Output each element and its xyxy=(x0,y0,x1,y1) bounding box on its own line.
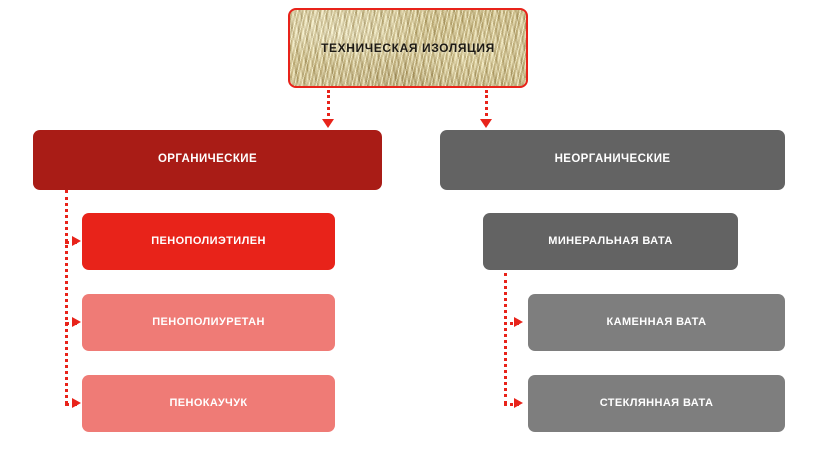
diagram-canvas: ТЕХНИЧЕСКАЯ ИЗОЛЯЦИЯ ОРГАНИЧЕСКИЕ НЕОРГА… xyxy=(0,0,817,450)
node-glass-wool[interactable]: СТЕКЛЯННАЯ ВАТА xyxy=(528,375,785,432)
node-glass-wool-label: СТЕКЛЯННАЯ ВАТА xyxy=(600,397,714,410)
node-stone-wool[interactable]: КАМЕННАЯ ВАТА xyxy=(528,294,785,351)
node-foamed-polyethylene-label: ПЕНОПОЛИЭТИЛЕН xyxy=(151,235,266,248)
node-inorganic[interactable]: НЕОРГАНИЧЕСКИЕ xyxy=(440,130,785,190)
node-organic-label: ОРГАНИЧЕСКИЕ xyxy=(158,153,257,167)
node-inorganic-label: НЕОРГАНИЧЕСКИЕ xyxy=(555,153,671,167)
node-foam-rubber[interactable]: ПЕНОКАУЧУК xyxy=(82,375,335,432)
node-polyurethane-foam-label: ПЕНОПОЛИУРЕТАН xyxy=(152,316,265,329)
connector-root-to-organic xyxy=(327,90,330,122)
arrowhead-organic-to-ppu xyxy=(72,317,81,327)
arrowhead-root-to-organic xyxy=(322,119,334,128)
node-polyurethane-foam[interactable]: ПЕНОПОЛИУРЕТАН xyxy=(82,294,335,351)
connector-root-to-inorganic xyxy=(485,90,488,122)
arrowhead-mineral-to-glass xyxy=(514,398,523,408)
connector-organic-trunk xyxy=(65,190,68,404)
node-technical-insulation-label: ТЕХНИЧЕСКАЯ ИЗОЛЯЦИЯ xyxy=(321,41,495,55)
arrowhead-organic-to-ppe xyxy=(72,236,81,246)
node-organic[interactable]: ОРГАНИЧЕСКИЕ xyxy=(33,130,382,190)
node-mineral-wool[interactable]: МИНЕРАЛЬНАЯ ВАТА xyxy=(483,213,738,270)
node-mineral-wool-label: МИНЕРАЛЬНАЯ ВАТА xyxy=(548,235,672,248)
node-foamed-polyethylene[interactable]: ПЕНОПОЛИЭТИЛЕН xyxy=(82,213,335,270)
arrowhead-organic-to-rubber xyxy=(72,398,81,408)
node-foam-rubber-label: ПЕНОКАУЧУК xyxy=(169,397,247,410)
connector-mineral-trunk xyxy=(504,273,507,404)
arrowhead-root-to-inorganic xyxy=(480,119,492,128)
arrowhead-mineral-to-stone xyxy=(514,317,523,327)
node-technical-insulation[interactable]: ТЕХНИЧЕСКАЯ ИЗОЛЯЦИЯ xyxy=(288,8,528,88)
node-stone-wool-label: КАМЕННАЯ ВАТА xyxy=(607,316,707,329)
